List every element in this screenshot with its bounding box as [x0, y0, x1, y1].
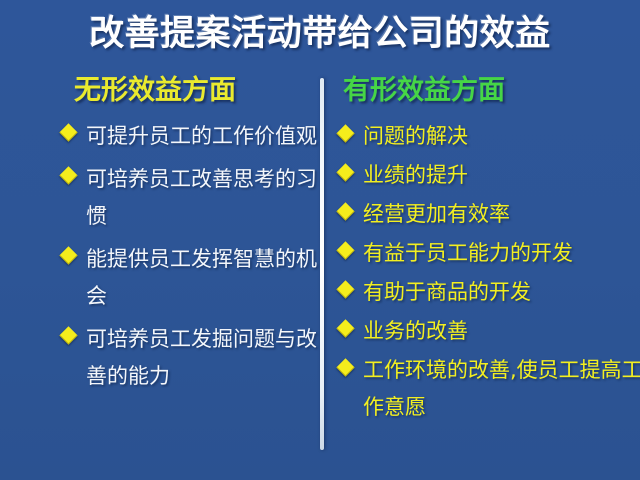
diamond-bullet-icon [336, 241, 354, 259]
list-item: 业务的改善 [337, 313, 640, 350]
columns-container: 无形效益方面 可提升员工的工作价值观 可培养员工改善思考的习惯 能提供员工发挥智… [0, 74, 640, 470]
list-item: 可培养员工改善思考的习惯 [60, 161, 324, 235]
column-intangible-benefits: 无形效益方面 可提升员工的工作价值观 可培养员工改善思考的习惯 能提供员工发挥智… [60, 74, 315, 470]
list-item: 业绩的提升 [337, 157, 640, 194]
bullet-list-intangible: 可提升员工的工作价值观 可培养员工改善思考的习惯 能提供员工发挥智慧的机会 可培… [60, 118, 315, 395]
list-item: 工作环境的改善,使员工提高工作意愿 [337, 352, 640, 426]
diamond-bullet-icon [59, 166, 77, 184]
list-item: 能提供员工发挥智慧的机会 [60, 241, 324, 315]
diamond-bullet-icon [336, 124, 354, 142]
list-item: 有益于员工能力的开发 [337, 235, 640, 272]
list-item-label: 工作环境的改善,使员工提高工作意愿 [363, 352, 640, 426]
list-item: 可提升员工的工作价值观 [60, 118, 324, 155]
page-title: 改善提案活动带给公司的效益 [89, 12, 551, 56]
diamond-bullet-icon [336, 319, 354, 337]
list-item-label: 业务的改善 [363, 313, 640, 350]
column-header-intangible: 无形效益方面 [60, 74, 315, 108]
title-bar: 改善提案活动带给公司的效益 [0, 12, 640, 56]
list-item-label: 有益于员工能力的开发 [363, 235, 640, 272]
diamond-bullet-icon [336, 202, 354, 220]
list-item: 问题的解决 [337, 118, 640, 155]
diamond-bullet-icon [336, 163, 354, 181]
slide-canvas: 改善提案活动带给公司的效益 无形效益方面 可提升员工的工作价值观 可培养员工改善… [0, 0, 640, 480]
column-tangible-benefits: 有形效益方面 问题的解决 业绩的提升 经营更加有效率 有益于员工能力的开发 [337, 74, 632, 470]
column-header-tangible: 有形效益方面 [337, 74, 632, 108]
list-item: 可培养员工发掘问题与改善的能力 [60, 321, 324, 395]
diamond-bullet-icon [59, 123, 77, 141]
diamond-bullet-icon [59, 326, 77, 344]
list-item-label: 能提供员工发挥智慧的机会 [86, 241, 324, 315]
diamond-bullet-icon [59, 246, 77, 264]
list-item-label: 经营更加有效率 [363, 196, 640, 233]
diamond-bullet-icon [336, 280, 354, 298]
list-item: 有助于商品的开发 [337, 274, 640, 311]
list-item-label: 可提升员工的工作价值观 [86, 118, 324, 155]
diamond-bullet-icon [336, 358, 354, 376]
list-item-label: 可培养员工发掘问题与改善的能力 [86, 321, 324, 395]
list-item: 经营更加有效率 [337, 196, 640, 233]
list-item-label: 业绩的提升 [363, 157, 640, 194]
list-item-label: 有助于商品的开发 [363, 274, 640, 311]
list-item-label: 问题的解决 [363, 118, 640, 155]
list-item-label: 可培养员工改善思考的习惯 [86, 161, 324, 235]
bullet-list-tangible: 问题的解决 业绩的提升 经营更加有效率 有益于员工能力的开发 有助于商品的开发 [337, 118, 632, 426]
